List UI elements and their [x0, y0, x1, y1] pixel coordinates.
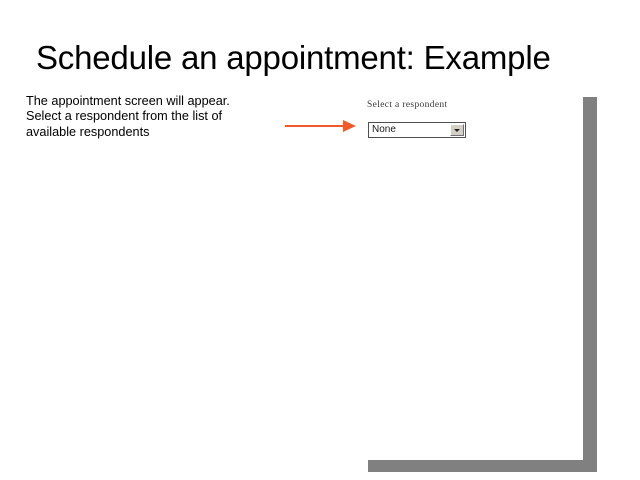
caret-glyph: [454, 129, 460, 132]
screenshot-shadow-bottom: [368, 460, 583, 472]
screenshot-shadow-right: [583, 97, 597, 472]
slide-title: Schedule an appointment: Example: [36, 38, 616, 78]
slide-body-text: The appointment screen will appear. Sele…: [26, 94, 256, 140]
respondent-select[interactable]: None: [368, 122, 466, 138]
chevron-down-icon[interactable]: [450, 124, 464, 136]
slide-canvas: Schedule an appointment: Example The app…: [0, 0, 640, 480]
respondent-selected-value[interactable]: None: [369, 123, 450, 137]
respondent-field-label: Select a respondent: [367, 100, 448, 110]
right-arrow-icon: [285, 119, 367, 135]
arrow-shaft: [285, 125, 347, 127]
arrow-head: [343, 120, 356, 132]
